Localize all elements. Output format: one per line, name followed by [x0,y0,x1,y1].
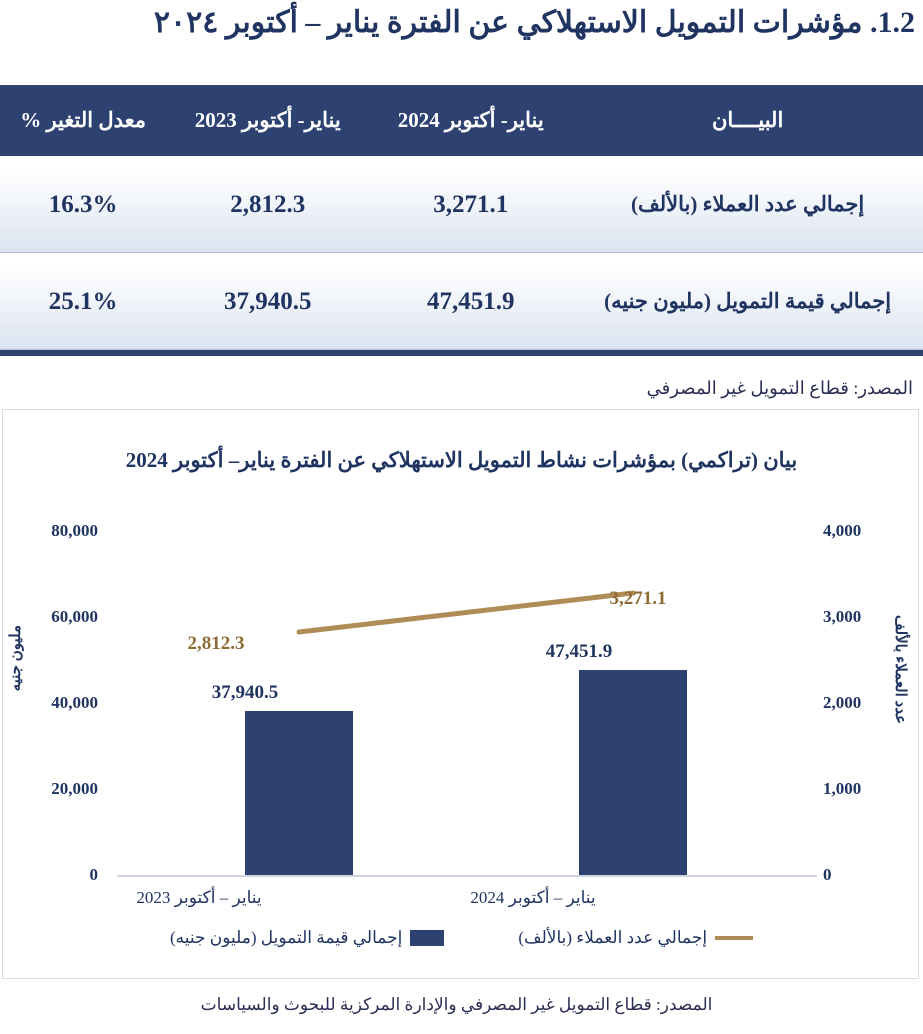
table-header-y2023: يناير- أكتوبر 2023 [166,108,369,133]
table-header-label: البيــــان [572,108,923,133]
table-cell-rate: 25.1% [0,288,166,316]
y-axis-right-title: عدد العملاء بالألف [891,615,909,724]
table-cell-y2023: 37,940.5 [166,288,369,316]
table-cell-y2024: 3,271.1 [369,191,572,219]
line-label-2024: 3,271.1 [573,588,703,610]
indicators-table: البيــــان يناير- أكتوبر 2024 يناير- أكت… [0,85,923,356]
table-header-y2024: يناير- أكتوبر 2024 [369,108,572,133]
y-axis-left-tick: 20,000 [0,779,98,799]
y-axis-right-tick: 4,000 [823,521,899,541]
legend-label-financing: إجمالي قيمة التمويل (مليون جنيه) [170,928,402,948]
chart-title: بيان (تراكمي) بمؤشرات نشاط التمويل الاست… [3,448,920,473]
page-title: 1.2. مؤشرات التمويل الاستهلاكي عن الفترة… [8,4,915,42]
y-axis-right-tick: 1,000 [823,779,899,799]
legend-item-customers[interactable]: إجمالي عدد العملاء (بالألف) [518,928,753,948]
table-row: إجمالي قيمة التمويل (مليون جنيه) 47,451.… [0,253,923,350]
line-swatch-icon [715,936,753,940]
y-axis-right-tick: 3,000 [823,607,899,627]
table-cell-y2023: 2,812.3 [166,191,369,219]
chart-source-note: المصدر: قطاع التمويل غير المصرفي والإدار… [0,995,913,1015]
y-axis-right-tick: 2,000 [823,693,899,713]
line-label-2023: 2,812.3 [151,633,281,655]
chart-card: بيان (تراكمي) بمؤشرات نشاط التمويل الاست… [2,409,919,979]
x-axis-baseline [117,875,817,877]
table-bottom-rule [0,350,923,356]
table-cell-y2024: 47,451.9 [369,288,572,316]
table-cell-label: إجمالي عدد العملاء (بالألف) [572,192,923,217]
bar-label-2024: 47,451.9 [499,641,659,663]
bar-swatch-icon [410,930,444,946]
table-source-note: المصدر: قطاع التمويل غير المصرفي [0,378,913,399]
x-axis-category-2024: يناير – أكتوبر 2024 [403,888,663,908]
y-axis-right-tick: 0 [823,865,899,885]
bar-label-2023: 37,940.5 [165,682,325,704]
y-axis-left-tick: 60,000 [0,607,98,627]
y-axis-left-title: مليون جنيه [7,625,25,691]
table-header-rate: معدل التغير % [0,108,166,133]
legend-label-customers: إجمالي عدد العملاء (بالألف) [518,928,707,948]
table-cell-label: إجمالي قيمة التمويل (مليون جنيه) [572,289,923,314]
chart-legend: إجمالي عدد العملاء (بالألف) إجمالي قيمة … [3,928,920,948]
table-header-row: البيــــان يناير- أكتوبر 2024 يناير- أكت… [0,85,923,156]
y-axis-left-tick: 0 [0,865,98,885]
y-axis-left-tick: 40,000 [0,693,98,713]
table-cell-rate: 16.3% [0,191,166,219]
x-axis-category-2023: يناير – أكتوبر 2023 [69,888,329,908]
legend-item-financing[interactable]: إجمالي قيمة التمويل (مليون جنيه) [170,928,444,948]
table-row: إجمالي عدد العملاء (بالألف) 3,271.1 2,81… [0,156,923,253]
y-axis-left-tick: 80,000 [0,521,98,541]
